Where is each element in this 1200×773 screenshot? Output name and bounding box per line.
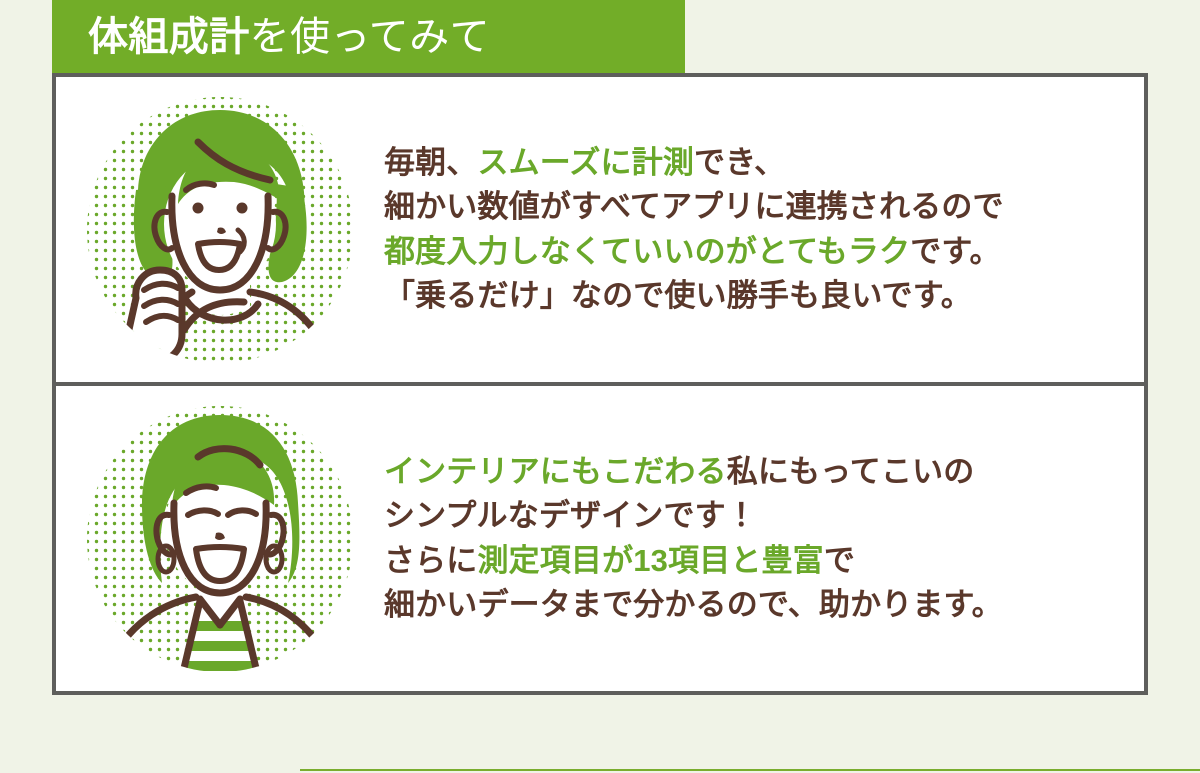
quote-line: 細かいデータまで分かるので、助かります。: [384, 583, 1132, 627]
quote-segment: インテリアにもこだわる: [384, 454, 727, 489]
quote-segment: さらに: [384, 543, 477, 578]
page-title: 体組成計を使ってみて: [88, 17, 490, 57]
avatar: [74, 393, 366, 685]
page-title-strong: 体組成計: [88, 15, 250, 59]
quote-segment: 私にもってこいの: [727, 454, 975, 489]
quote-segment: 毎朝、: [384, 145, 477, 180]
quote-line: インテリアにもこだわる私にもってこいの: [384, 450, 1132, 494]
quote-segment: です。: [910, 234, 1000, 269]
quote-line: シンプルなデザインです！: [384, 494, 1132, 538]
quote-line: 都度入力しなくていいのがとてもラクです。: [384, 230, 1132, 274]
mouth-icon: [196, 547, 244, 581]
quote-text: インテリアにもこだわる私にもってこいの シンプルなデザインです！ さらに測定項目…: [366, 450, 1144, 627]
quote-line: 細かい数値がすべてアプリに連携されるので: [384, 185, 1132, 229]
quote-text: 毎朝、スムーズに計測でき、 細かい数値がすべてアプリに連携されるので 都度入力し…: [366, 141, 1144, 318]
testimonial-card: 毎朝、スムーズに計測でき、 細かい数値がすべてアプリに連携されるので 都度入力し…: [52, 73, 1148, 695]
eye-right-icon: [237, 202, 248, 213]
testimonial-row: インテリアにもこだわる私にもってこいの シンプルなデザインです！ さらに測定項目…: [56, 382, 1144, 691]
quote-segment: 細かいデータまで分かるので、助かります。: [384, 587, 1003, 622]
quote-segment: 都度入力しなくていいのがとてもラク: [384, 234, 910, 269]
quote-segment: 「乗るだけ」なので使い勝手も良いです。: [384, 278, 972, 313]
section-header-tab: 体組成計を使ってみて: [52, 0, 685, 73]
page-title-light: を使ってみて: [250, 15, 490, 59]
quote-segment: 細かい数値がすべてアプリに連携されるので: [384, 189, 1004, 224]
quote-segment: でき、: [694, 145, 785, 180]
testimonial-row: 毎朝、スムーズに計測でき、 細かい数値がすべてアプリに連携されるので 都度入力し…: [56, 77, 1144, 382]
eye-left-icon: [193, 202, 204, 213]
quote-line: さらに測定項目が13項目と豊富で: [384, 539, 1132, 583]
quote-segment: シンプルなデザインです！: [384, 498, 757, 533]
quote-segment: で: [824, 543, 855, 578]
mouth-icon: [198, 242, 240, 270]
avatar: [74, 84, 366, 376]
quote-segment: 測定項目が13項目と豊富: [477, 543, 823, 578]
bottom-divider-rule: [300, 769, 1200, 771]
quote-line: 「乗るだけ」なので使い勝手も良いです。: [384, 274, 1132, 318]
quote-line: 毎朝、スムーズに計測でき、: [384, 141, 1132, 185]
quote-segment: スムーズに計測: [477, 145, 694, 180]
